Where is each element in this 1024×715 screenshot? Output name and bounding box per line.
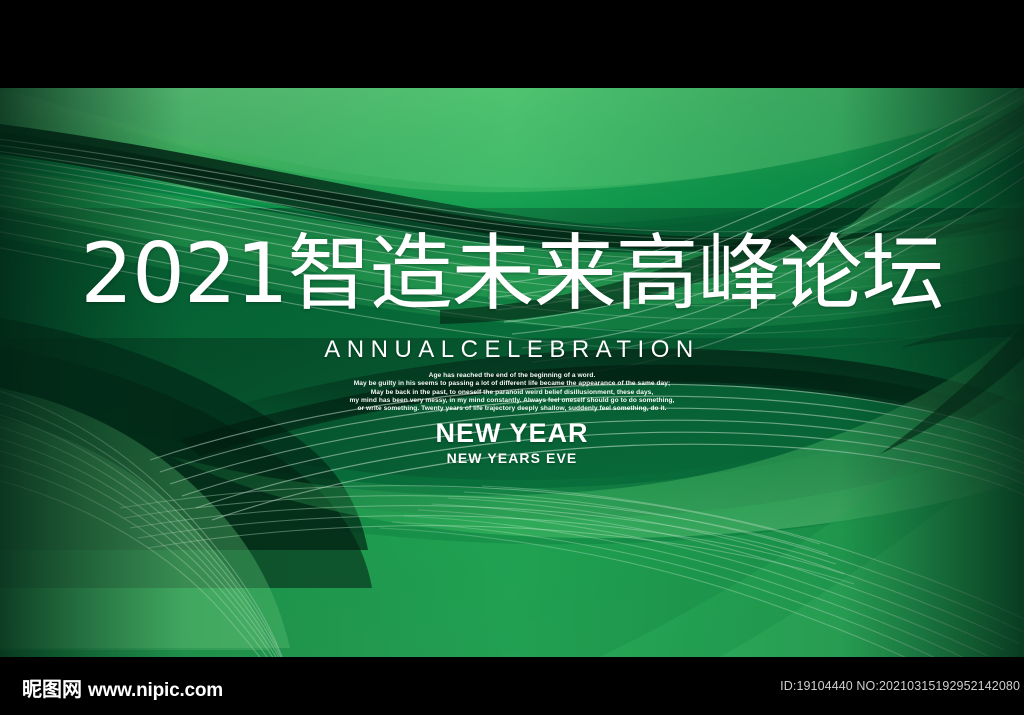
poster-screenshot: 2021智造未来高峰论坛 ANNUALCELEBRATION Age has r…	[0, 0, 1024, 715]
site-name-cn: 昵图网	[22, 673, 82, 702]
poster-canvas: 2021智造未来高峰论坛 ANNUALCELEBRATION Age has r…	[0, 88, 1024, 657]
site-url: www.nipic.com	[88, 680, 223, 702]
asset-id-label: ID:19104440 NO:20210315192952142080	[780, 679, 1020, 693]
decorative-wave-artwork	[0, 88, 1024, 657]
site-watermark: 昵图网 www.nipic.com	[22, 673, 223, 702]
watermark-bar: 昵图网 www.nipic.com ID:19104440 NO:2021031…	[0, 657, 1024, 715]
